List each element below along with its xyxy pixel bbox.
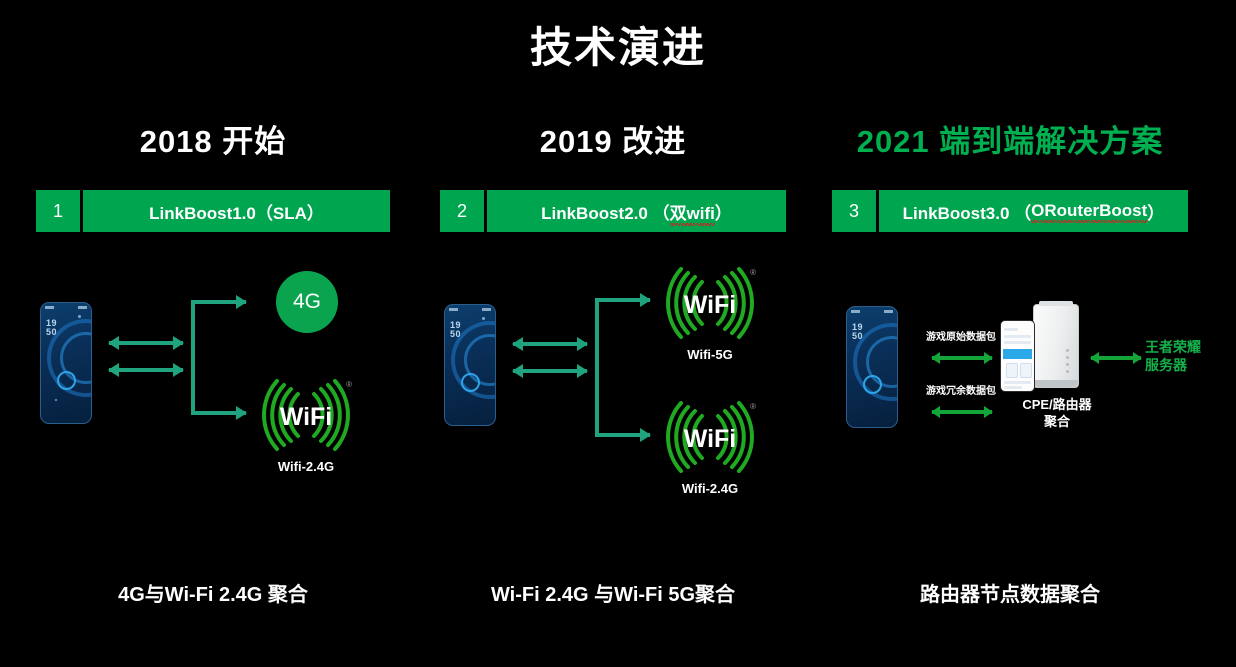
linkboost3-bar[interactable]: 3 LinkBoost3.0 （ORouterBoost） (832, 190, 1188, 232)
registered-mark-icon: ® (750, 268, 756, 277)
node-wifi-5g-icon: WiFi ® Wifi-5G (662, 266, 758, 340)
cpe-companion-phone (1000, 320, 1035, 392)
wallpaper-speck (78, 315, 81, 318)
linkboost1-bar[interactable]: 1 LinkBoost1.0（SLA） (36, 190, 390, 232)
server-label-line2: 服务器 (1145, 356, 1201, 374)
linkboost3-prefix: LinkBoost3.0 （ (903, 199, 1031, 224)
linkboost3-spellcheck-word: ORouterBoost (1031, 201, 1147, 221)
phone-clock: 1950 (46, 319, 57, 337)
wallpaper-ring-small (461, 373, 480, 392)
app-row (1004, 386, 1022, 389)
column-2021: 2021 端到端解决方案 3 LinkBoost3.0 （ORouterBoos… (832, 120, 1188, 544)
app-row (1004, 341, 1031, 344)
app-card (1020, 363, 1032, 378)
diagram-2018: 1950 4G (36, 254, 390, 544)
column-header-2018: 2018 开始 (36, 120, 390, 164)
page-title: 技术演进 (0, 14, 1236, 75)
badge-number-3: 3 (832, 190, 876, 232)
cpe-caption: CPE/路由器 聚合 (982, 396, 1132, 430)
cpe-caption-line2: 聚合 (982, 413, 1132, 430)
split-bracket (191, 302, 195, 415)
wallpaper-speck (55, 399, 57, 401)
label-redundant-packet: 游戏冗余数据包 (926, 382, 996, 397)
server-label: 王者荣耀 服务器 (1145, 338, 1201, 374)
svg-text:WiFi: WiFi (684, 425, 737, 453)
link-arrow-bottom (513, 369, 587, 373)
phone-device: 1950 (444, 304, 496, 426)
registered-mark-icon: ® (346, 380, 352, 389)
branch-arrow-wifi24g (595, 433, 650, 437)
linkboost3-label: LinkBoost3.0 （ORouterBoost） (879, 190, 1188, 232)
column-2019: 2019 改进 2 LinkBoost2.0 （双wifi） 1950 (440, 120, 786, 544)
app-row (1004, 335, 1031, 338)
footer-caption-2021: 路由器节点数据聚合 (832, 578, 1188, 607)
cpe-caption-line1: CPE/路由器 (982, 396, 1132, 413)
column-header-2021: 2021 端到端解决方案 (832, 120, 1188, 164)
label-original-packet: 游戏原始数据包 (926, 328, 996, 343)
linkboost2-label: LinkBoost2.0 （双wifi） (487, 190, 786, 232)
arrow-to-server (1091, 356, 1141, 360)
node-wifi-24g-caption: Wifi-2.4G (278, 459, 334, 474)
router-base (1034, 380, 1078, 387)
linkboost3-suffix: ） (1147, 199, 1164, 224)
column-header-2019: 2019 改进 (440, 120, 786, 164)
diagram-2019: 1950 (440, 254, 786, 544)
wallpaper-ring-small (57, 371, 76, 390)
app-row (1004, 328, 1018, 331)
branch-arrow-wifi (191, 411, 246, 415)
phone-clock: 1950 (450, 321, 461, 339)
branch-arrow-4g (191, 300, 246, 304)
link-arrow-top (513, 342, 587, 346)
phone-device: 1950 (40, 302, 92, 424)
badge-number-2: 2 (440, 190, 484, 232)
node-wifi-24g-caption: Wifi-2.4G (682, 481, 738, 496)
slide-root: 技术演进 2018 开始 1 LinkBoost1.0（SLA） 1950 (0, 0, 1236, 667)
phone-statusbar (851, 310, 893, 315)
server-label-line1: 王者荣耀 (1145, 338, 1201, 356)
footer-caption-2019: Wi-Fi 2.4G 与Wi-Fi 5G聚合 (430, 578, 796, 607)
router-led-indicators (1066, 349, 1069, 377)
node-wifi-5g-caption: Wifi-5G (687, 347, 732, 362)
footer-caption-2018: 4G与Wi-Fi 2.4G 聚合 (36, 578, 390, 607)
branch-arrow-wifi5g (595, 298, 650, 302)
linkboost2-prefix: LinkBoost2.0 （ (541, 199, 669, 224)
phone-clock: 1950 (852, 323, 863, 341)
link-arrow-top (109, 341, 183, 345)
phone-device: 1950 (846, 306, 898, 428)
wallpaper-speck (482, 317, 485, 320)
wallpaper-ring-small (863, 375, 882, 394)
column-2018: 2018 开始 1 LinkBoost1.0（SLA） 1950 (36, 120, 390, 544)
svg-text:WiFi: WiFi (280, 403, 333, 431)
app-highlight-band (1003, 349, 1032, 359)
app-row (1004, 381, 1031, 384)
arrow-original-packet (932, 356, 992, 360)
app-card (1006, 363, 1018, 378)
split-bracket (595, 300, 599, 437)
registered-mark-icon: ® (750, 402, 756, 411)
node-4g: 4G (276, 271, 338, 333)
linkboost2-spellcheck-word: 双wifi (670, 199, 715, 224)
node-wifi-24g-icon: WiFi ® Wifi-2.4G (258, 378, 354, 452)
badge-number-1: 1 (36, 190, 80, 232)
diagram-2021: 1950 游戏原始数据包 游戏冗余数据包 (832, 254, 1188, 544)
svg-text:WiFi: WiFi (684, 291, 737, 319)
phone-statusbar (449, 308, 491, 313)
linkboost1-label: LinkBoost1.0（SLA） (83, 190, 390, 232)
node-wifi-24g-icon: WiFi ® Wifi-2.4G (662, 400, 758, 474)
cpe-router-device (1033, 304, 1079, 388)
linkboost2-suffix: ） (715, 199, 732, 224)
router-top-cap (1039, 301, 1073, 306)
linkboost2-bar[interactable]: 2 LinkBoost2.0 （双wifi） (440, 190, 786, 232)
link-arrow-bottom (109, 368, 183, 372)
phone-statusbar (45, 306, 87, 311)
